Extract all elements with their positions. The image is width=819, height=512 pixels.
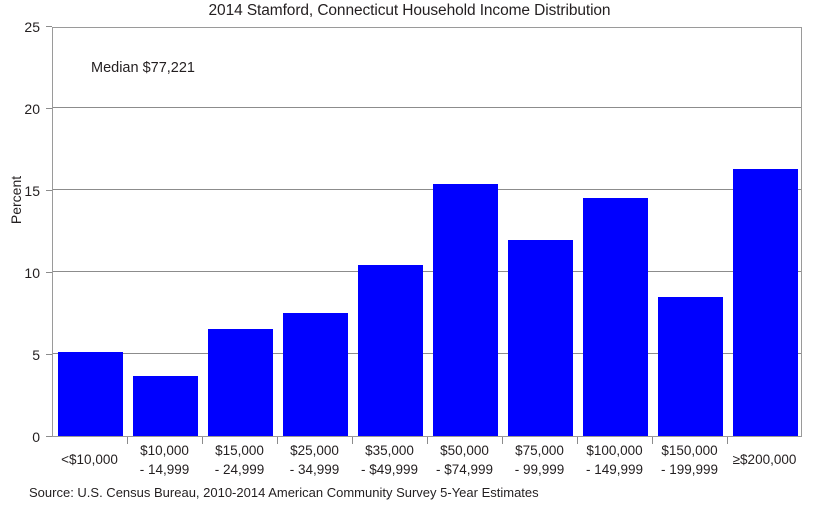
bar xyxy=(583,198,648,436)
x-axis-tick-label: $50,000- $74,999 xyxy=(427,441,502,479)
x-axis-tick-labels: <$10,000$10,000- 14,999$15,000- 24,999$2… xyxy=(52,441,802,489)
bar xyxy=(508,240,573,436)
x-axis-label-line2: - 99,999 xyxy=(502,460,577,479)
x-axis-tick-label: $25,000- 34,999 xyxy=(277,441,352,479)
x-axis-label-line1: $50,000 xyxy=(440,443,489,458)
y-axis-tick-label: 15 xyxy=(24,183,40,199)
x-axis-label-line2: - 149,999 xyxy=(577,460,652,479)
source-note: Source: U.S. Census Bureau, 2010-2014 Am… xyxy=(29,485,539,500)
x-axis-tick-label: $100,000- 149,999 xyxy=(577,441,652,479)
x-axis-label-line2: - 14,999 xyxy=(127,460,202,479)
x-axis-tick-label: $10,000- 14,999 xyxy=(127,441,202,479)
x-axis-label-line1: $100,000 xyxy=(586,443,642,458)
bar xyxy=(133,376,198,436)
median-annotation: Median $77,221 xyxy=(91,60,195,76)
x-axis-tick-label: $15,000- 24,999 xyxy=(202,441,277,479)
bar xyxy=(358,265,423,436)
x-axis-label-line1: $75,000 xyxy=(515,443,564,458)
x-axis-label-line1: $150,000 xyxy=(661,443,717,458)
x-axis-label-line2: - $49,999 xyxy=(352,460,427,479)
y-axis-tick-label: 5 xyxy=(32,347,40,363)
gridline xyxy=(53,107,801,108)
x-axis-label-line2: - 199,999 xyxy=(652,460,727,479)
chart-title: 2014 Stamford, Connecticut Household Inc… xyxy=(0,2,819,20)
x-axis-label-line1: $35,000 xyxy=(365,443,414,458)
x-axis-label-line1: <$10,000 xyxy=(61,452,118,467)
x-axis-label-line2: - 34,999 xyxy=(277,460,352,479)
bar xyxy=(208,329,273,436)
x-axis-tick-label: <$10,000 xyxy=(52,450,127,469)
x-axis-label-line1: $10,000 xyxy=(140,443,189,458)
bar xyxy=(283,313,348,436)
y-axis-tick-label: 20 xyxy=(24,101,40,117)
bar xyxy=(433,184,498,436)
gridline xyxy=(53,271,801,272)
x-axis-label-line1: ≥$200,000 xyxy=(733,452,797,467)
plot-area xyxy=(52,27,802,437)
x-axis-label-line2: - 24,999 xyxy=(202,460,277,479)
y-axis-tick-labels: 0510152025 xyxy=(0,27,46,437)
x-axis-tick-label: ≥$200,000 xyxy=(727,450,802,469)
x-axis-label-line1: $15,000 xyxy=(215,443,264,458)
y-axis-tick-label: 0 xyxy=(32,429,40,445)
x-axis-tick-label: $150,000- 199,999 xyxy=(652,441,727,479)
bar xyxy=(58,352,123,436)
gridline xyxy=(53,189,801,190)
y-axis-tick-label: 10 xyxy=(24,265,40,281)
x-axis-label-line1: $25,000 xyxy=(290,443,339,458)
x-axis-label-line2: - $74,999 xyxy=(427,460,502,479)
bar xyxy=(658,297,723,436)
bar xyxy=(733,169,798,436)
x-axis-tick-label: $35,000- $49,999 xyxy=(352,441,427,479)
x-axis-tick-label: $75,000- 99,999 xyxy=(502,441,577,479)
y-axis-tick-label: 25 xyxy=(24,19,40,35)
household-income-bar-chart: 2014 Stamford, Connecticut Household Inc… xyxy=(0,0,819,512)
